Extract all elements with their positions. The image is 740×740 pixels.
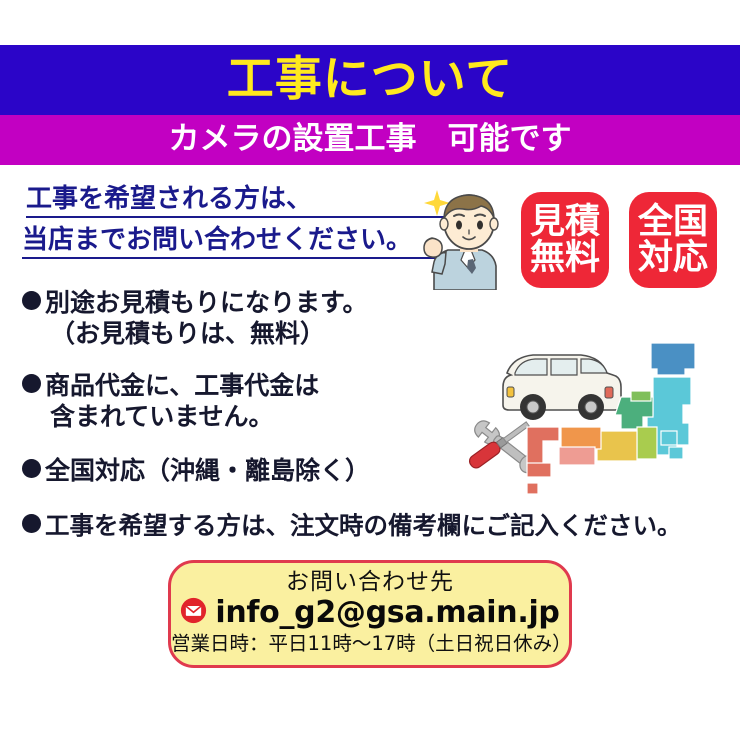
list-item: 工事を希望する方は、注文時の備考欄にご記入ください。 [22,511,738,541]
bullet-dot-icon [22,459,41,478]
contact-box: お問い合わせ先 info_g2@gsa.main.jp 営業日時：平日11時～1… [168,560,572,668]
badge-nationwide: 全国 対応 [629,192,717,288]
contact-email-row: info_g2@gsa.main.jp [171,597,569,628]
bullet-text: 別途お見積もりになります。 [45,288,368,317]
promo-banner: 工事について カメラの設置工事 可能です 工事を希望される方は、 当店までお問い… [0,0,740,740]
contact-title: お問い合わせ先 [171,569,569,595]
badge-nationwide-line-1: 全国 [638,204,708,240]
lead-message: 工事を希望される方は、 当店までお問い合わせください。 [26,186,446,268]
worker-character-icon [420,182,520,290]
header-band-secondary: カメラの設置工事 可能です [0,115,740,165]
contact-email[interactable]: info_g2@gsa.main.jp [215,598,559,628]
badge-estimate-line-1: 見積 [530,204,600,240]
bullet-line: 工事を希望する方は、注文時の備考欄にご記入ください。 [22,511,738,541]
badge-estimate: 見積 無料 [521,192,609,288]
page-title: 工事について [227,56,514,103]
envelope-icon [180,597,207,628]
service-illustration [455,335,725,505]
bullet-text: 全国対応（沖縄・離島除く） [45,456,370,485]
bullet-line: 別途お見積もりになります。 [22,288,738,319]
bullet-dot-icon [22,291,41,310]
bullet-text: 工事を希望する方は、注文時の備考欄にご記入ください。 [45,511,682,540]
header-band-primary: 工事について [0,45,740,115]
bullet-dot-icon [22,514,41,533]
contact-hours: 営業日時：平日11時～17時（土日祝日休み） [171,633,569,654]
badge-estimate-line-2: 無料 [530,240,600,276]
page-subtitle: カメラの設置工事 可能です [169,124,572,155]
white-van-icon [503,355,621,420]
bullet-text: 商品代金に、工事代金は [45,371,319,400]
badge-nationwide-line-2: 対応 [638,240,708,276]
bullet-dot-icon [22,374,41,393]
lead-line-2: 当店までお問い合わせください。 [22,227,446,259]
lead-line-1: 工事を希望される方は、 [26,186,446,218]
